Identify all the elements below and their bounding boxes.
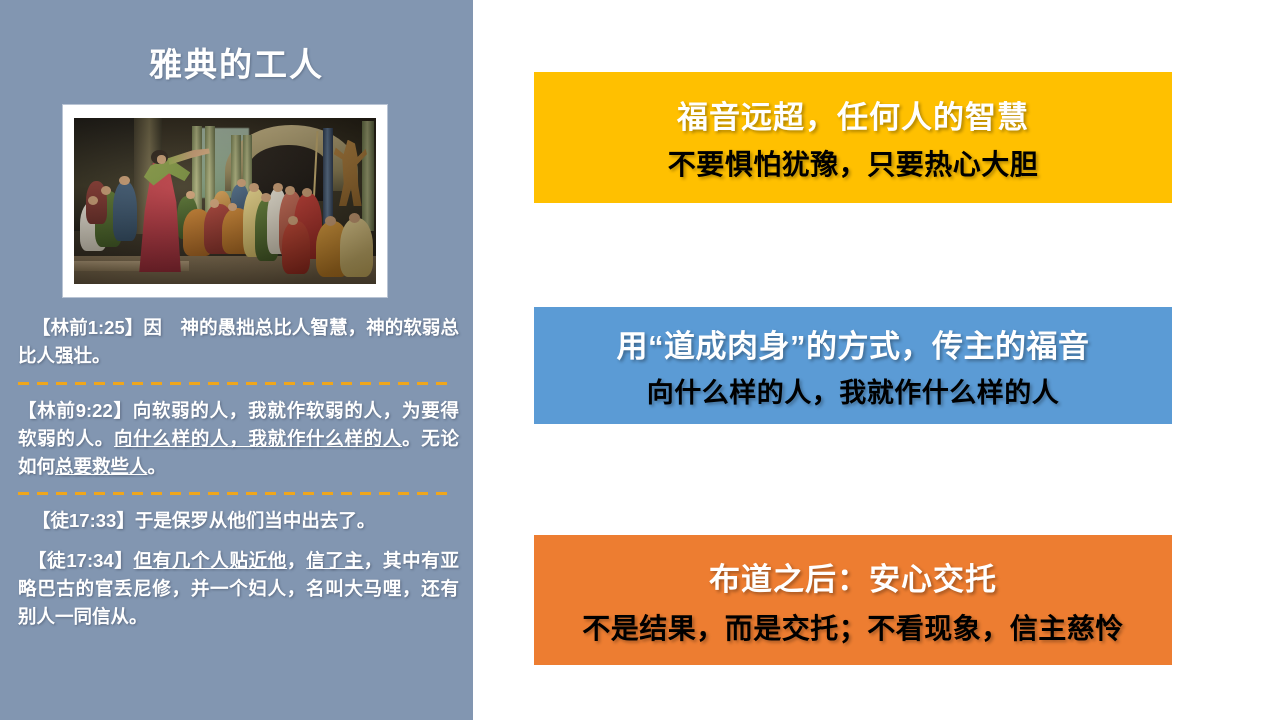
sidebar-panel: 雅典的工人 xyxy=(0,0,473,720)
page-title: 雅典的工人 xyxy=(0,38,473,86)
verse-acts-17-34: 【徒17:34】但有几个人贴近他，信了主，其中有亚略巴古的官丢尼修，并一个妇人，… xyxy=(0,547,473,632)
verse-1co-1-25: 【林前1:25】因 神的愚拙总比人智慧，神的软弱总比人强壮。 xyxy=(0,314,473,371)
verse-acts-17-33: 【徒17:33】于是保罗从他们当中出去了。 xyxy=(0,507,473,535)
panel-subline: 不要惧怕犹豫，只要热心大胆 xyxy=(668,143,1039,183)
panel-subline: 向什么样的人，我就作什么样的人 xyxy=(647,371,1060,410)
verse-segment-underlined: 但有几个人贴近他 xyxy=(134,550,287,571)
verse-segment-underlined: 信了主 xyxy=(306,550,364,571)
verse-segment-underlined: 向什么样的人，我就作什么样的人 xyxy=(114,428,402,449)
verse-divider-1 xyxy=(18,382,451,385)
st-paul-preaching-in-athens-painting xyxy=(74,118,376,284)
panel-incarnation-method: 用“道成肉身”的方式，传主的福音 向什么样的人，我就作什么样的人 xyxy=(534,307,1172,424)
panel-headline: 布道之后：安心交托 xyxy=(709,554,997,599)
panel-gospel-wisdom: 福音远超，任何人的智慧 不要惧怕犹豫，只要热心大胆 xyxy=(534,72,1172,203)
verse-segment-underlined: 总要救些人 xyxy=(55,456,148,477)
panel-subline: 不是结果，而是交托；不看现象，信主慈怜 xyxy=(582,607,1124,647)
painting-frame xyxy=(62,104,388,298)
panel-after-preaching: 布道之后：安心交托 不是结果，而是交托；不看现象，信主慈怜 xyxy=(534,535,1172,665)
verse-1co-9-22: 【林前9:22】向软弱的人，我就作软弱的人，为要得软弱的人。向什么样的人，我就作… xyxy=(0,397,473,482)
panel-headline: 福音远超，任何人的智慧 xyxy=(677,92,1029,137)
verse-divider-2 xyxy=(18,492,451,495)
panel-headline: 用“道成肉身”的方式，传主的福音 xyxy=(617,321,1090,366)
verse-segment: 。 xyxy=(148,456,167,477)
verse-segment: ， xyxy=(287,550,306,571)
verse-segment: 【徒17:34】 xyxy=(28,550,134,571)
scripture-list: 【林前1:25】因 神的愚拙总比人智慧，神的软弱总比人强壮。 【林前9:22】向… xyxy=(0,314,473,632)
